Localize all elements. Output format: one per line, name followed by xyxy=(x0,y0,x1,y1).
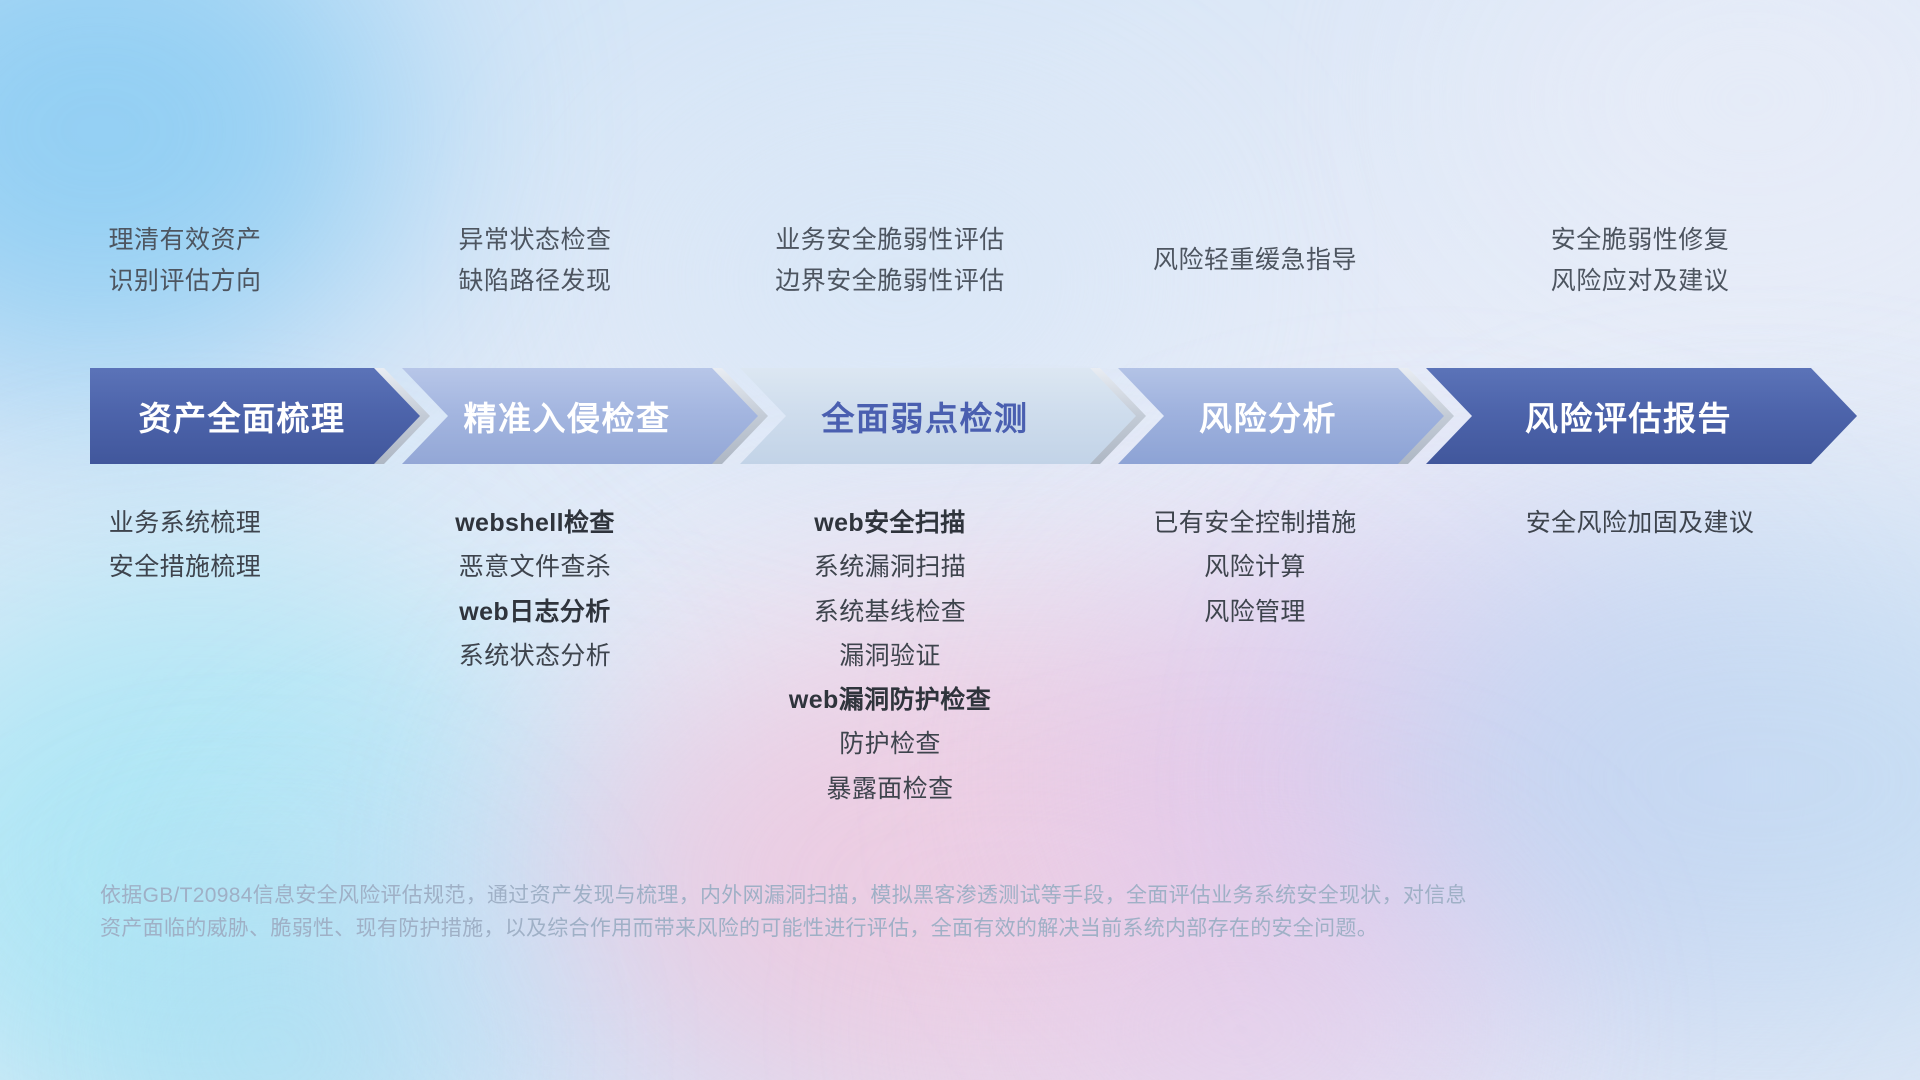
list-item: 已有安全控制措施 xyxy=(1153,510,1356,536)
top-label: 边界安全脆弱性评估 xyxy=(775,269,1005,294)
bottom-column-4: 已有安全控制措施 风险计算 风险管理 xyxy=(1080,510,1430,802)
process-step-5-label: 风险评估报告 xyxy=(1426,392,1857,440)
list-item: webshell检查 xyxy=(455,510,615,536)
list-item: 业务系统梳理 xyxy=(109,510,261,536)
top-label: 风险应对及建议 xyxy=(1551,269,1730,294)
process-chevron-banner: 资产全面梳理 精准入侵检查 全面弱点检测 风险分析 风险评估报告 xyxy=(90,368,1857,464)
list-item: 安全措施梳理 xyxy=(109,554,261,580)
bottom-column-2: webshell检查 恶意文件查杀 web日志分析 系统状态分析 xyxy=(370,510,700,802)
top-label: 安全脆弱性修复 xyxy=(1551,228,1730,253)
list-item: 风险管理 xyxy=(1204,599,1306,625)
process-step-3-label: 全面弱点检测 xyxy=(740,392,1136,440)
list-item: 恶意文件查杀 xyxy=(459,554,611,580)
bottom-column-5: 安全风险加固及建议 xyxy=(1430,510,1850,802)
list-item: web日志分析 xyxy=(459,599,610,625)
list-item: 系统状态分析 xyxy=(459,643,611,669)
top-column-3: 业务安全脆弱性评估 边界安全脆弱性评估 xyxy=(700,228,1080,338)
list-item: web安全扫描 xyxy=(814,510,965,536)
top-label: 异常状态检查 xyxy=(458,228,611,253)
process-step-4[interactable]: 风险分析 xyxy=(1118,368,1444,464)
process-step-4-label: 风险分析 xyxy=(1118,392,1444,440)
list-item: 系统漏洞扫描 xyxy=(814,554,966,580)
top-label-row: 理清有效资产 识别评估方向 异常状态检查 缺陷路径发现 业务安全脆弱性评估 边界… xyxy=(0,228,1920,338)
top-label: 理清有效资产 xyxy=(108,228,261,253)
bottom-column-3: web安全扫描 系统漏洞扫描 系统基线检查 漏洞验证 web漏洞防护检查 防护检… xyxy=(700,510,1080,802)
top-label: 识别评估方向 xyxy=(108,269,261,294)
top-label: 业务安全脆弱性评估 xyxy=(775,228,1005,253)
top-label: 缺陷路径发现 xyxy=(458,269,611,294)
list-item: 安全风险加固及建议 xyxy=(1526,510,1755,536)
list-item: 防护检查 xyxy=(839,731,941,757)
list-item: 风险计算 xyxy=(1204,554,1306,580)
bottom-list-row: 业务系统梳理 安全措施梳理 webshell检查 恶意文件查杀 web日志分析 … xyxy=(0,510,1920,802)
top-column-2: 异常状态检查 缺陷路径发现 xyxy=(370,228,700,338)
process-step-3[interactable]: 全面弱点检测 xyxy=(740,368,1136,464)
top-label: 风险轻重缓急指导 xyxy=(1153,248,1357,273)
process-step-2-label: 精准入侵检查 xyxy=(402,392,758,440)
list-item: 系统基线检查 xyxy=(814,599,966,625)
footer-note: 依据GB/T20984信息安全风险评估规范，通过资产发现与梳理，内外网漏洞扫描，… xyxy=(100,880,1660,945)
footer-line-1: 依据GB/T20984信息安全风险评估规范，通过资产发现与梳理，内外网漏洞扫描，… xyxy=(100,880,1660,913)
top-column-4: 风险轻重缓急指导 xyxy=(1080,228,1430,338)
process-step-2[interactable]: 精准入侵检查 xyxy=(402,368,758,464)
footer-line-2: 资产面临的威胁、脆弱性、现有防护措施，以及综合作用而带来风险的可能性进行评估，全… xyxy=(100,913,1660,946)
process-step-1[interactable]: 资产全面梳理 xyxy=(90,368,420,464)
top-column-5: 安全脆弱性修复 风险应对及建议 xyxy=(1430,228,1850,338)
top-column-1: 理清有效资产 识别评估方向 xyxy=(0,228,370,338)
process-step-1-label: 资产全面梳理 xyxy=(90,392,420,440)
list-item: 漏洞验证 xyxy=(839,643,941,669)
process-step-5[interactable]: 风险评估报告 xyxy=(1426,368,1857,464)
slide-content: 理清有效资产 识别评估方向 异常状态检查 缺陷路径发现 业务安全脆弱性评估 边界… xyxy=(0,0,1920,1080)
bottom-column-1: 业务系统梳理 安全措施梳理 xyxy=(0,510,370,802)
list-item: web漏洞防护检查 xyxy=(789,687,991,713)
list-item: 暴露面检查 xyxy=(826,776,953,802)
